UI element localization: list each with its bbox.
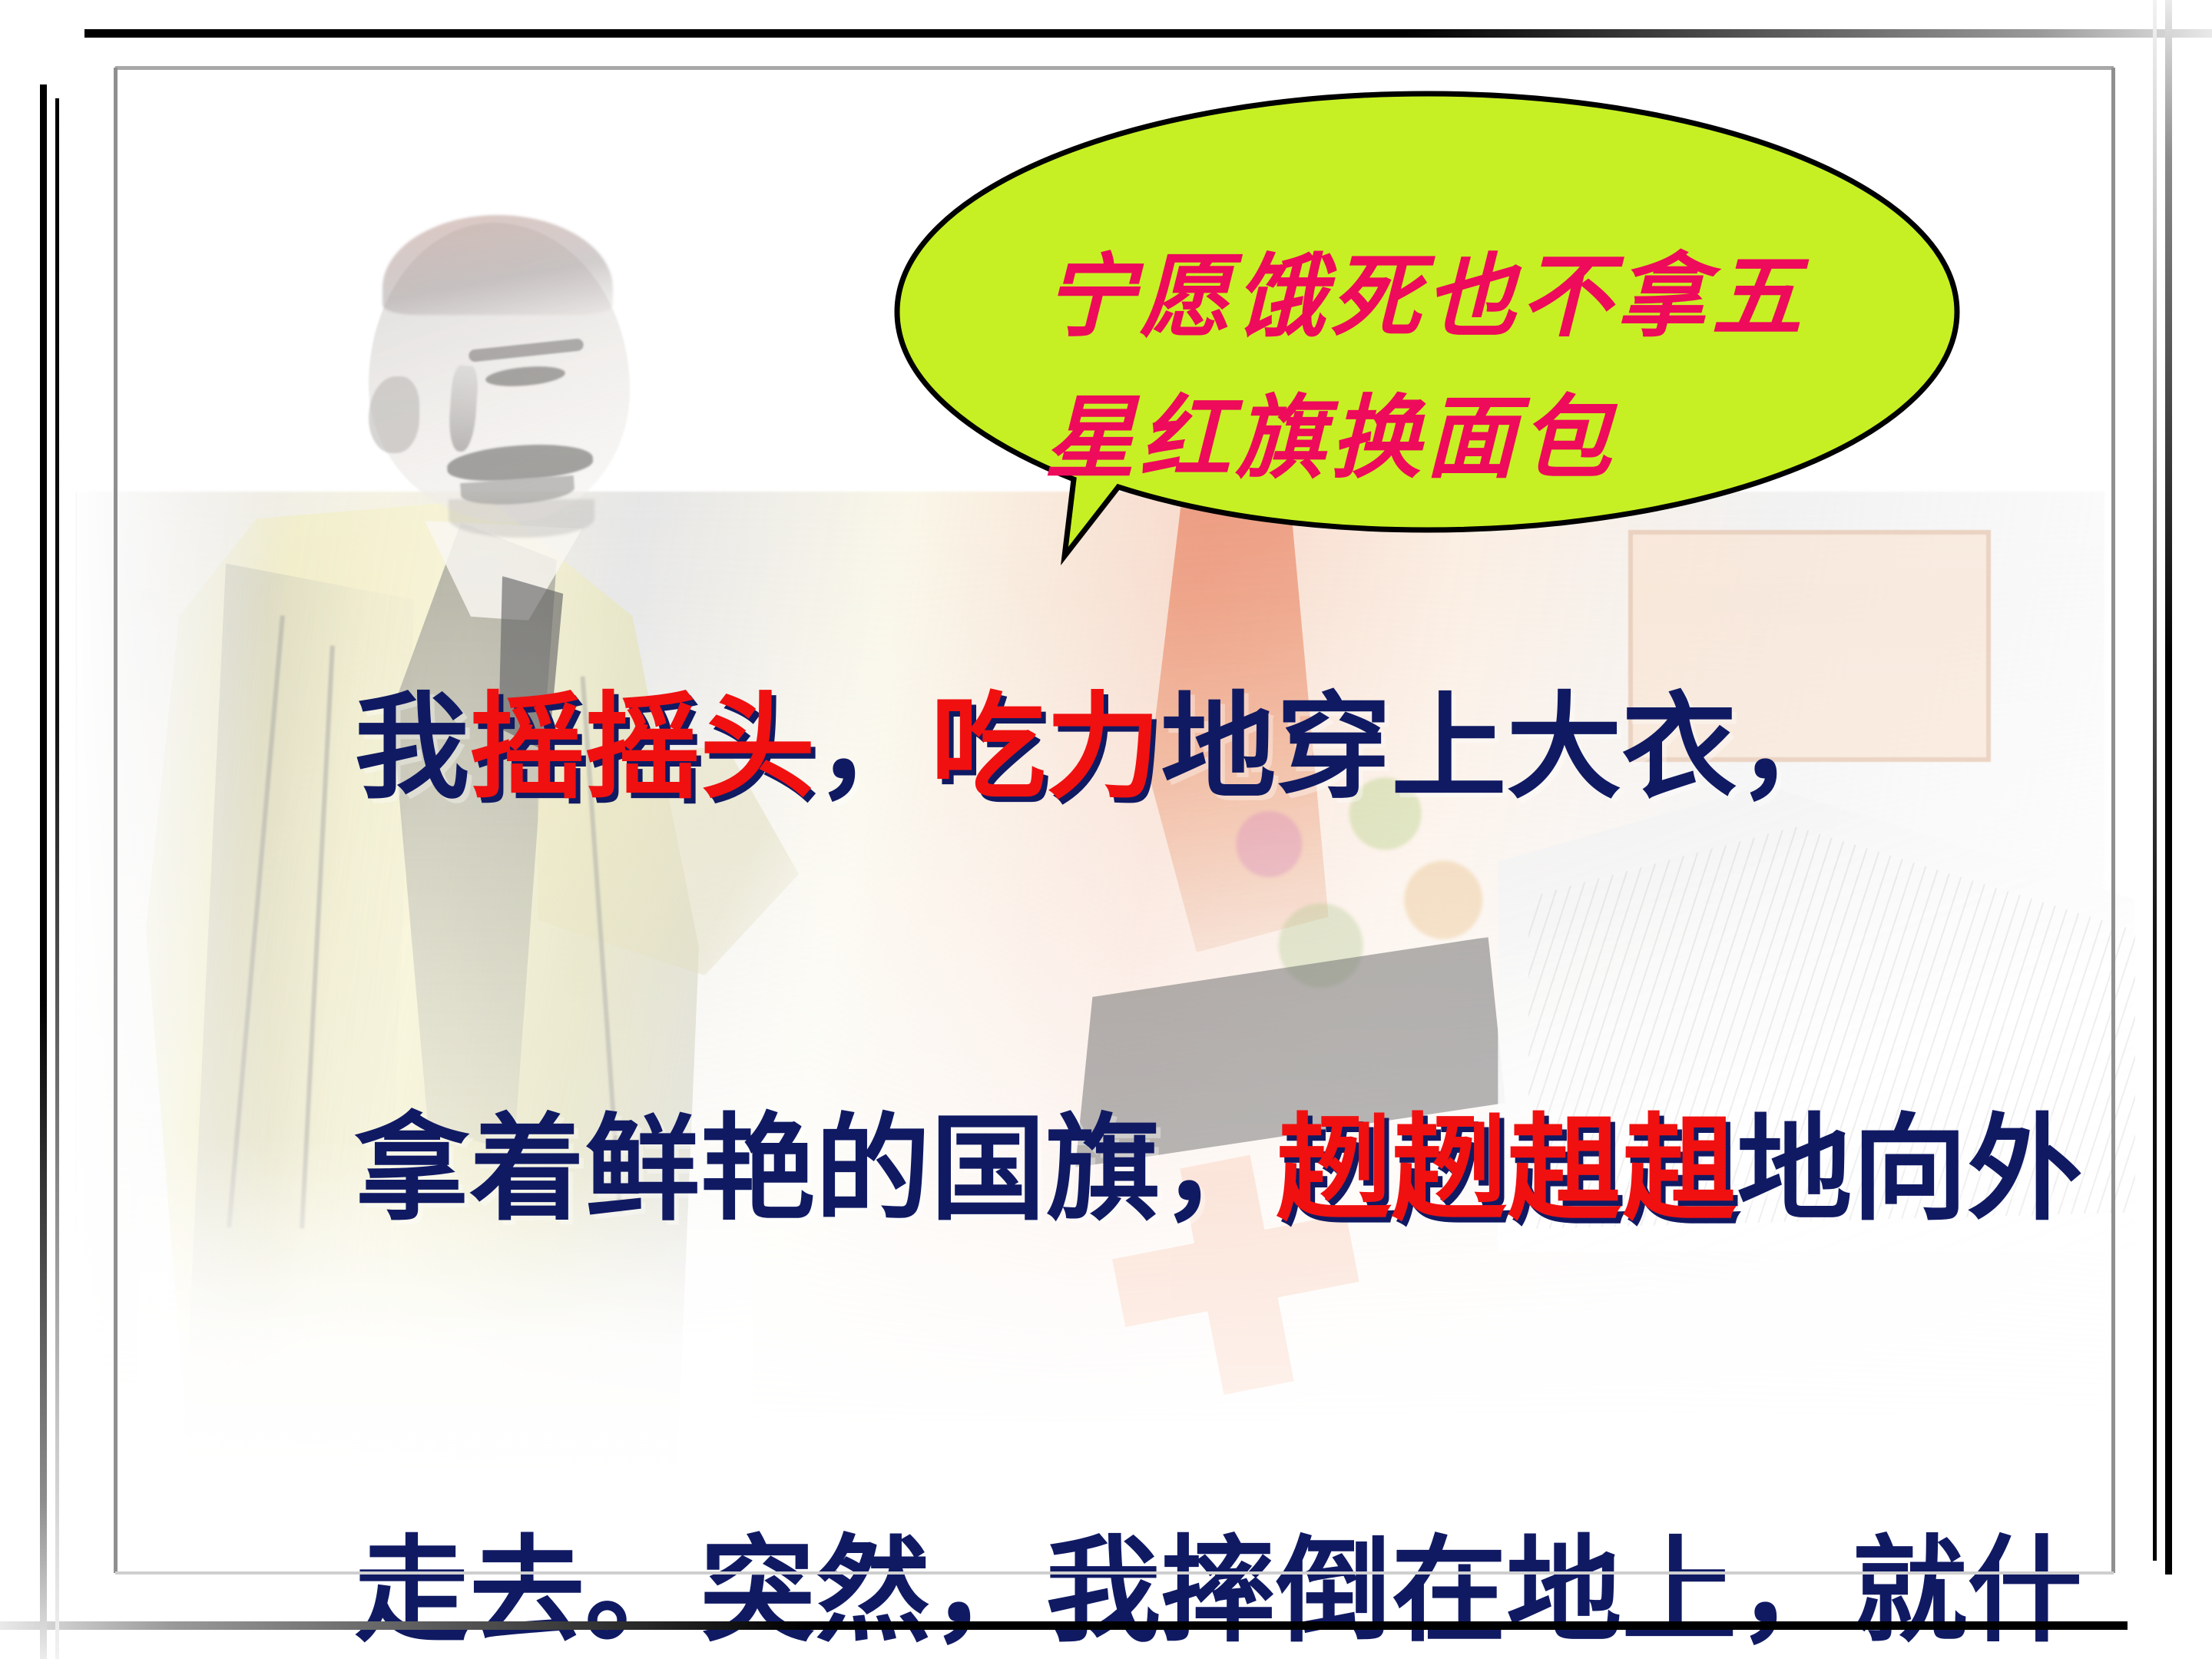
text-segment-highlight: 摇摇头 — [469, 681, 815, 815]
speech-bubble: 宁愿饿死也不拿五 星红旗换面包 — [882, 89, 1972, 576]
text-segment: 拿着鲜艳的国旗， — [354, 1103, 1276, 1237]
text-segment-highlight: 趔趔趄趄 — [1276, 1103, 1737, 1237]
body-paragraph: 我摇摇头，吃力地穿上大衣， 拿着鲜艳的国旗，趔趔趄趄地向外 走去。突然，我摔倒在… — [114, 538, 2118, 1659]
body-line-3: 走去。突然，我摔倒在地上，就什 — [114, 1381, 2118, 1659]
text-segment: ， — [815, 681, 930, 815]
text-segment: 地穿上大衣， — [1161, 681, 1852, 815]
speech-bubble-text: 宁愿饿死也不拿五 星红旗换面包 — [1045, 226, 1859, 508]
text-segment-highlight: 吃力 — [930, 681, 1161, 815]
text-segment: 走去。突然，我摔倒在地上，就什 — [354, 1525, 2082, 1658]
text-segment: 地向外 — [1737, 1103, 2082, 1237]
body-line-1: 我摇摇头，吃力地穿上大衣， — [114, 538, 2118, 959]
slide-canvas: 宁愿饿死也不拿五 星红旗换面包 我摇摇头，吃力地穿上大衣， 拿着鲜艳的国旗，趔趔… — [0, 0, 2212, 1659]
body-line-2: 拿着鲜艳的国旗，趔趔趄趄地向外 — [114, 959, 2118, 1381]
text-segment: 我 — [354, 681, 469, 815]
